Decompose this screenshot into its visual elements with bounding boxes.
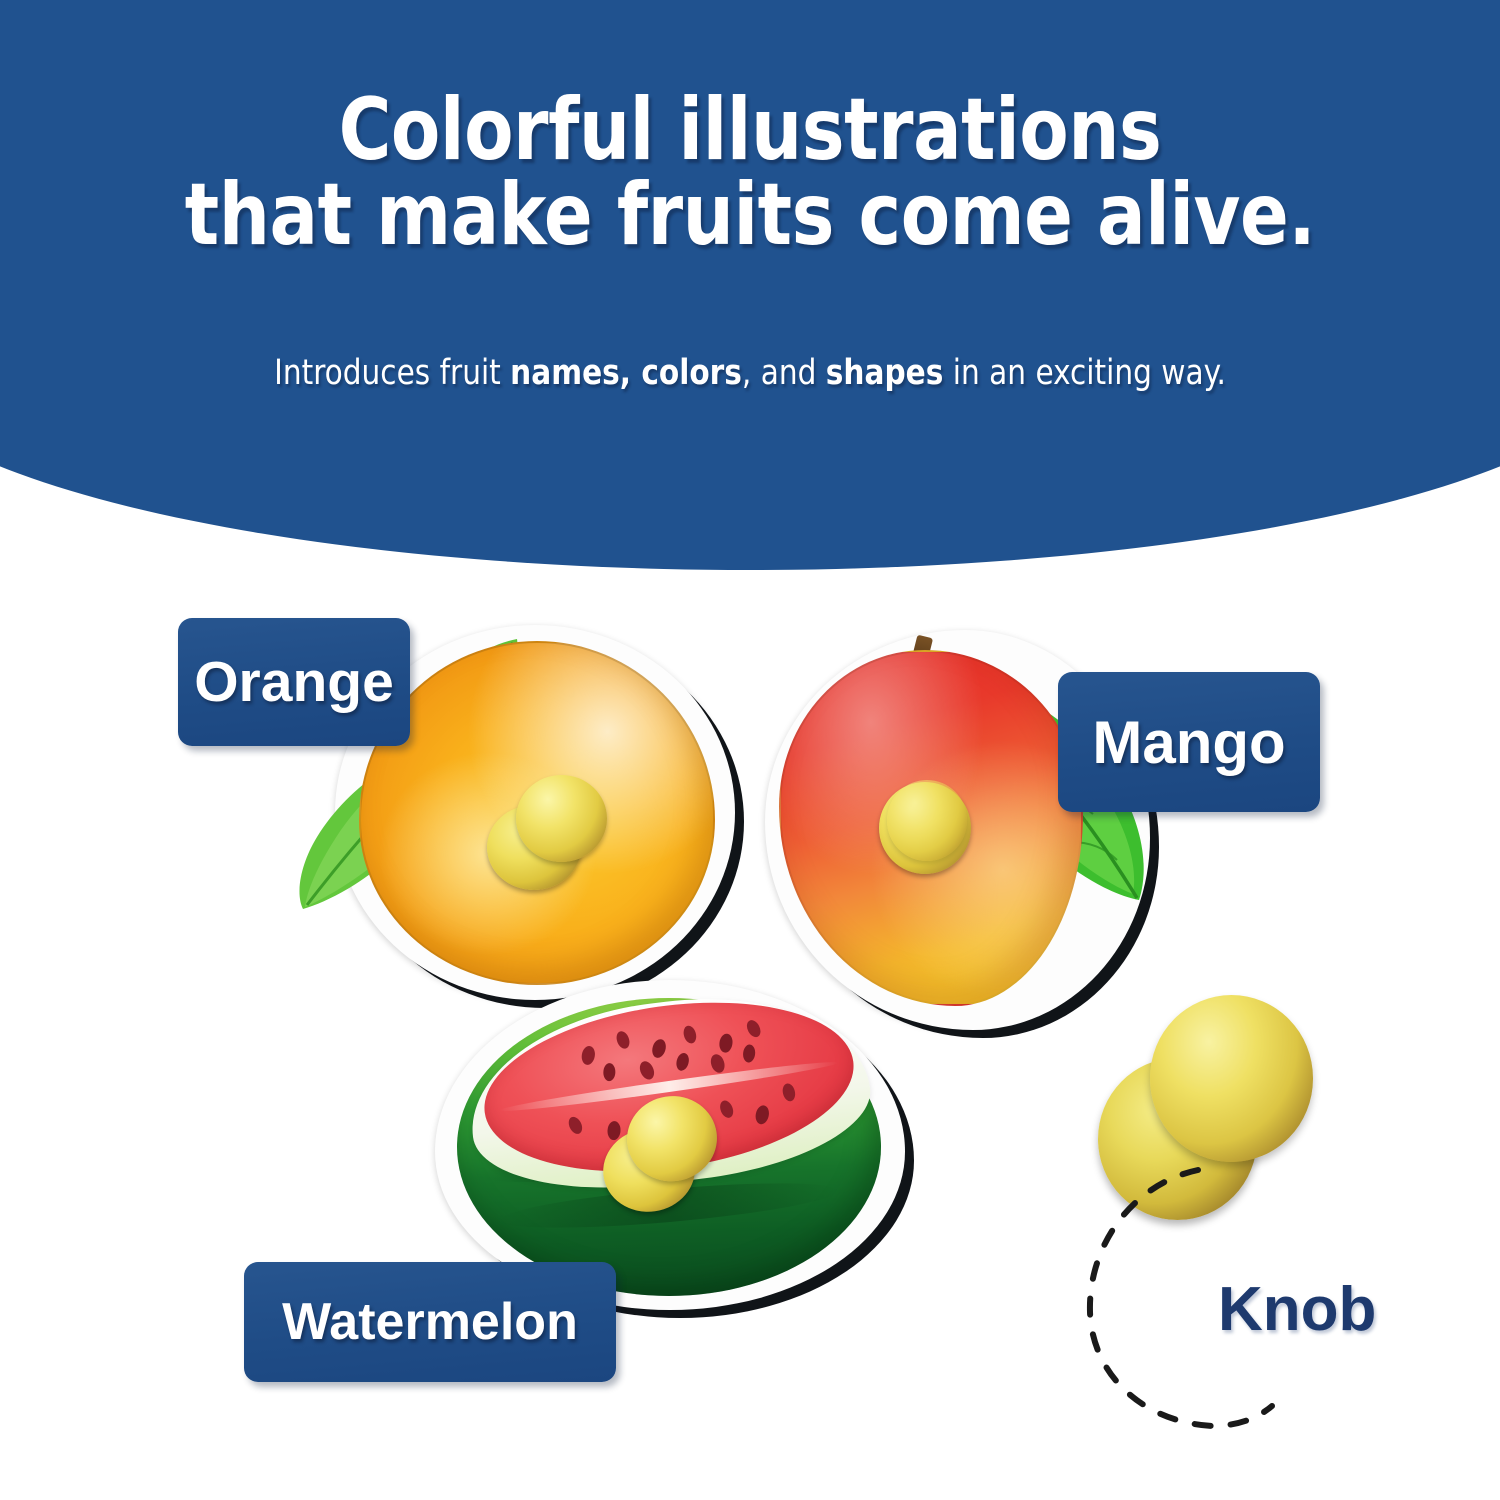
label-text-knob: Knob bbox=[1218, 1274, 1376, 1345]
label-badge-watermelon[interactable]: Watermelon bbox=[244, 1262, 616, 1382]
standalone-knob-top bbox=[1150, 995, 1313, 1162]
watermelon-knob[interactable] bbox=[594, 1090, 726, 1217]
subtitle-bold-shapes: shapes bbox=[826, 353, 944, 393]
poster-canvas: Colorful illustrations that make fruits … bbox=[0, 0, 1500, 1500]
subtitle-bold-names-colors: names, colors bbox=[510, 353, 742, 393]
subtitle-post: in an exciting way. bbox=[943, 353, 1225, 393]
label-text-watermelon: Watermelon bbox=[282, 1292, 578, 1352]
page-subtitle: Introduces fruit names, colors, and shap… bbox=[45, 352, 1455, 394]
orange-knob-top bbox=[516, 775, 607, 862]
puzzle-piece-watermelon[interactable] bbox=[435, 980, 905, 1310]
mango-knob[interactable] bbox=[877, 778, 973, 874]
mango-knob-top bbox=[887, 780, 968, 861]
subtitle-mid: , and bbox=[742, 353, 826, 393]
subtitle-pre: Introduces fruit bbox=[274, 353, 510, 393]
orange-knob[interactable] bbox=[487, 775, 607, 890]
header-banner: Colorful illustrations that make fruits … bbox=[0, 0, 1500, 600]
label-text-orange: Orange bbox=[194, 649, 394, 715]
label-badge-orange[interactable]: Orange bbox=[178, 618, 410, 746]
page-title: Colorful illustrations that make fruits … bbox=[53, 88, 1448, 258]
label-badge-mango[interactable]: Mango bbox=[1058, 672, 1320, 812]
label-text-mango: Mango bbox=[1092, 708, 1285, 777]
